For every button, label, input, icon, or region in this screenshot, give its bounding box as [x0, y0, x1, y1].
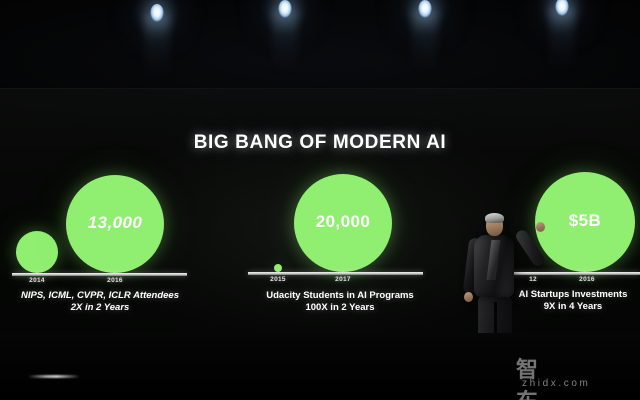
axis-line-group-1 [12, 273, 187, 276]
caption-line1-group-3: AI Startups Investments [497, 289, 640, 301]
year-label-2017: 2017 [328, 276, 358, 283]
speaker-left-hand [464, 292, 473, 302]
stage-floor [0, 333, 640, 400]
year-label-2015: 2015 [263, 276, 293, 283]
year-label-2014: 2014 [22, 277, 52, 284]
spotlight-3 [418, 0, 432, 18]
axis-line-group-2 [248, 272, 423, 275]
spotlight-2 [278, 0, 292, 18]
stage-light-reflection [28, 375, 80, 378]
slide-title: BIG BANG OF MODERN AI [0, 132, 640, 154]
year-label-2016-investments: 2016 [572, 276, 602, 283]
bubble-2016: 13,000 [66, 175, 164, 273]
caption-line1-group-1: NIPS, ICML, CVPR, ICLR Attendees [0, 290, 200, 302]
spotlight-1 [150, 4, 164, 22]
spotlight-beam-3 [412, 10, 438, 74]
presentation-screenshot: BIG BANG OF MODERN AI 13,000 2014 2016 N… [0, 0, 640, 400]
axis-line-group-3 [497, 272, 640, 275]
watermark-logo-text: 智东西 [516, 352, 541, 400]
screen-seam-top [0, 88, 640, 89]
bubble-2016-investments: $5B [535, 172, 635, 272]
bubble-2014 [16, 231, 58, 273]
bubble-2015 [274, 264, 282, 272]
bubble-label-13000: 13,000 [66, 213, 164, 233]
caption-line2-group-3: 9X in 4 Years [497, 301, 640, 313]
caption-line1-group-2: Udacity Students in AI Programs [240, 290, 440, 302]
speaker-right-hand [536, 222, 545, 232]
year-label-12: 12 [521, 276, 545, 283]
watermark-url: zhidx.com [522, 378, 590, 389]
spotlight-beam-2 [272, 10, 298, 74]
bubble-2017: 20,000 [294, 174, 392, 272]
year-label-2016: 2016 [100, 277, 130, 284]
caption-line2-group-2: 100X in 2 Years [240, 302, 440, 314]
bubble-label-5b: $5B [535, 211, 635, 231]
spotlight-beam-1 [144, 14, 170, 78]
caption-line2-group-1: 2X in 2 Years [0, 302, 200, 314]
spotlight-beam-4 [549, 8, 575, 72]
bubble-label-20000: 20,000 [294, 212, 392, 232]
speaker-hair [485, 213, 504, 223]
